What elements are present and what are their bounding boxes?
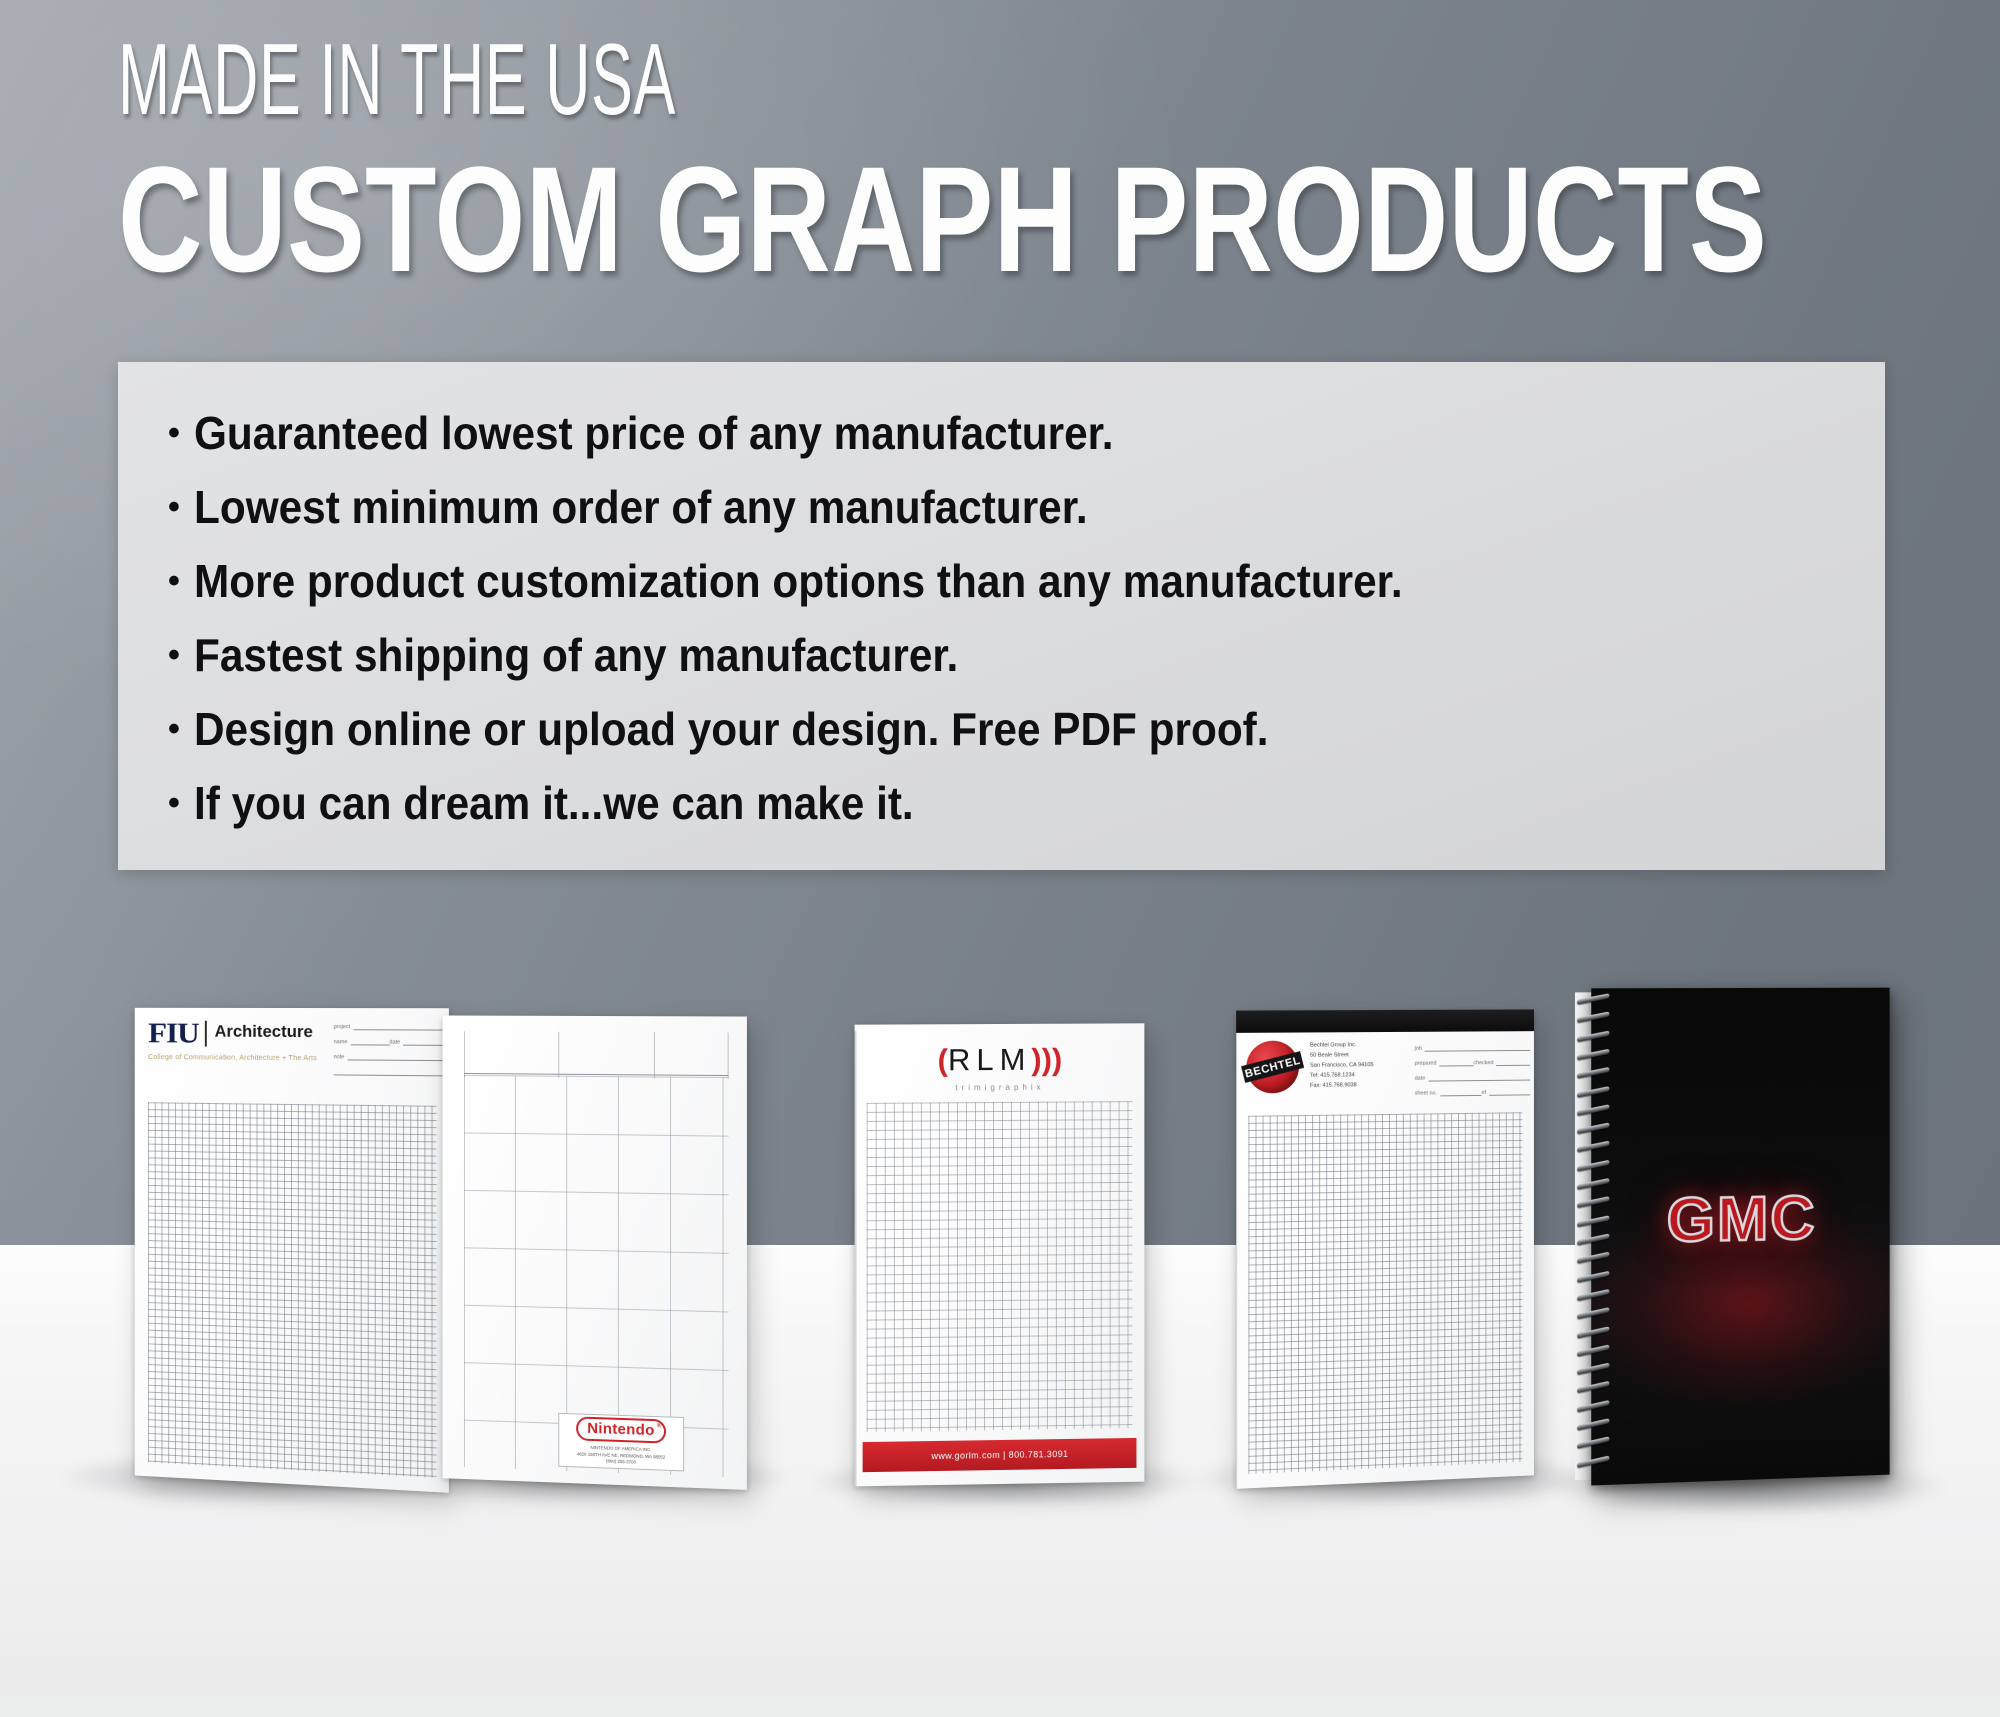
form-field-label: prepared [1415, 1061, 1437, 1067]
spiral-coil [1577, 1233, 1609, 1245]
benefits-list: • Guaranteed lowest price of any manufac… [168, 410, 1855, 854]
spiral-coil [1577, 1252, 1609, 1264]
bechtel-form-fields[interactable]: job prepared checked date sheet no. of [1415, 1043, 1530, 1104]
spiral-coil [1577, 1049, 1609, 1061]
list-item-label: If you can dream it...we can make it. [194, 780, 914, 826]
list-item-label: Fastest shipping of any manufacturer. [194, 632, 958, 678]
nintendo-logo: Nintendo® [576, 1417, 665, 1444]
form-field-rule [403, 1038, 442, 1046]
form-field-row[interactable] [334, 1067, 443, 1076]
pad-bottom-edge [443, 1478, 747, 1490]
divider [205, 1021, 207, 1047]
spiral-coil [1577, 1326, 1609, 1338]
address-line: 50 Beale Street [1310, 1050, 1373, 1061]
form-field-label: job [1415, 1046, 1422, 1052]
spiral-coil [1577, 1196, 1609, 1208]
bullet-dot-icon: • [168, 416, 180, 450]
form-field-row[interactable]: job [1415, 1043, 1530, 1052]
pad-edge [855, 1031, 857, 1487]
pad-bottom-edge [855, 1482, 1145, 1487]
address-line: Bechtel Group Inc. [1310, 1040, 1373, 1051]
product-nintendo-graph-pad[interactable]: Nintendo® NINTENDO OF AMERICA INC. 4820 … [443, 1015, 747, 1489]
spiral-coil [1577, 1215, 1609, 1227]
bullet-dot-icon: • [168, 712, 180, 746]
spiral-binding-icon [1577, 996, 1612, 1478]
rlm-right-bracket-icon: ))) [1031, 1042, 1062, 1077]
form-field-label: note [334, 1054, 345, 1060]
nintendo-logo-block: Nintendo® NINTENDO OF AMERICA INC. 4820 … [558, 1413, 684, 1472]
benefits-panel: • Guaranteed lowest price of any manufac… [118, 362, 1885, 870]
bullet-dot-icon: • [168, 786, 180, 820]
graph-grid [1248, 1112, 1522, 1474]
spiral-coil [1577, 1178, 1609, 1190]
rlm-brand-text: RLM [948, 1042, 1031, 1077]
spiral-coil [1577, 1418, 1609, 1430]
spiral-coil [1577, 1363, 1609, 1375]
spiral-coil [1577, 1086, 1609, 1098]
form-field-label: name [334, 1039, 348, 1045]
list-item: • Design online or upload your design. F… [168, 706, 1855, 752]
rlm-left-bracket-icon: ( [938, 1042, 948, 1077]
form-field-label: of [1482, 1090, 1486, 1096]
form-field-rule [347, 1052, 442, 1061]
form-field-row[interactable]: sheet no. of [1415, 1087, 1530, 1096]
pad-bottom-edge [1236, 1475, 1534, 1488]
rlm-tagline: trimigraphix [855, 1082, 1145, 1093]
address-line: Fax: 415.768.9038 [1310, 1080, 1373, 1091]
list-item-label: Lowest minimum order of any manufacturer… [194, 484, 1088, 530]
spiral-coil [1577, 1381, 1609, 1393]
rlm-footer-bar: www.gorlm.com | 800.781.3091 [863, 1438, 1137, 1472]
form-field-label: date [1415, 1076, 1426, 1082]
form-field-rule [350, 1037, 389, 1045]
fiu-department-label: Architecture [215, 1020, 313, 1044]
address-line: San Francisco, CA 94105 [1310, 1060, 1373, 1071]
product-fiu-graph-pad[interactable]: FIU Architecture College of Communicatio… [135, 1008, 449, 1493]
bechtel-globe-icon: BECHTEL [1246, 1041, 1299, 1094]
spiral-coil [1577, 1141, 1609, 1153]
spiral-coil [1577, 1067, 1609, 1079]
spiral-coil [1577, 1104, 1609, 1116]
spiral-coil [1577, 1030, 1609, 1042]
pad-bottom-edge [135, 1475, 449, 1492]
form-field-label: date [389, 1039, 400, 1045]
product-gmc-spiral-notebook[interactable]: GMC [1591, 988, 1889, 1486]
address-line: Tel: 415.768.1234 [1310, 1070, 1373, 1081]
spiral-coil [1577, 1270, 1609, 1282]
list-item-label: Design online or upload your design. Fre… [194, 706, 1269, 752]
nintendo-wordmark: Nintendo [587, 1420, 654, 1439]
form-field-rule [1428, 1073, 1530, 1082]
trademark-icon: ® [657, 1423, 662, 1429]
product-lineup: FIU Architecture College of Communicatio… [0, 980, 2000, 1540]
bechtel-wordmark: BECHTEL [1241, 1051, 1304, 1083]
fiu-logo: FIU [148, 1020, 199, 1049]
spiral-coil [1577, 1012, 1609, 1023]
form-field-rule [353, 1022, 443, 1030]
spiral-coil [1577, 1289, 1609, 1301]
form-field-label: checked [1473, 1060, 1493, 1066]
bullet-dot-icon: • [168, 564, 180, 598]
rlm-footer-text: www.gorlm.com | 800.781.3091 [931, 1449, 1068, 1461]
spiral-coil [1577, 1455, 1609, 1467]
list-item: • Guaranteed lowest price of any manufac… [168, 410, 1855, 456]
kicker-text: MADE IN THE USA [118, 34, 1209, 128]
bullet-dot-icon: • [168, 490, 180, 524]
spiral-coil [1577, 1307, 1609, 1319]
form-field-rule [1489, 1087, 1530, 1095]
form-field-rule [1440, 1088, 1482, 1096]
spiral-coil [1577, 1344, 1609, 1356]
bullet-dot-icon: • [168, 638, 180, 672]
pad-edge [1236, 1017, 1237, 1489]
header-block: MADE IN THE USA CUSTOM GRAPH PRODUCTS [118, 34, 1878, 288]
bechtel-address: Bechtel Group Inc. 50 Beale Street San F… [1310, 1040, 1373, 1093]
form-field-label: project [334, 1024, 351, 1030]
form-field-rule [1425, 1043, 1530, 1052]
form-field-label: sheet no. [1415, 1090, 1437, 1096]
fiu-form-fields[interactable]: project name date note [334, 1022, 443, 1083]
spiral-coil [1577, 1437, 1609, 1449]
page-title: CUSTOM GRAPH PRODUCTS [118, 150, 1491, 288]
bechtel-black-header-bar [1236, 1009, 1534, 1032]
spiral-coil [1577, 1123, 1609, 1135]
form-field-row[interactable]: name date [334, 1037, 443, 1046]
list-item: • Fastest shipping of any manufacturer. [168, 632, 1855, 678]
list-item: • Lowest minimum order of any manufactur… [168, 484, 1855, 530]
form-field-rule [1439, 1058, 1473, 1066]
form-field-row[interactable]: note [334, 1052, 443, 1061]
list-item-label: More product customization options than … [194, 558, 1403, 604]
product-bechtel-graph-pad[interactable]: BECHTEL Bechtel Group Inc. 50 Beale Stre… [1236, 1009, 1534, 1488]
footer-strip [0, 1695, 2000, 1717]
column-rules [464, 1031, 729, 1079]
form-field-row[interactable]: project [334, 1022, 443, 1030]
form-field-row[interactable]: prepared checked [1415, 1058, 1530, 1067]
notebook-cover: GMC [1591, 988, 1889, 1486]
form-field-rule [1496, 1058, 1530, 1066]
rlm-wordmark: (RLM))) [855, 1041, 1145, 1079]
spiral-coil [1577, 1400, 1609, 1412]
graph-grid [867, 1101, 1133, 1432]
form-field-row[interactable]: date [1415, 1073, 1530, 1082]
gmc-logo: GMC [1591, 1182, 1889, 1258]
rlm-logo: (RLM))) trimigraphix [855, 1041, 1145, 1093]
list-item: • If you can dream it...we can make it. [168, 780, 1855, 826]
product-rlm-graph-pad[interactable]: (RLM))) trimigraphix www.gorlm.com | 800… [855, 1023, 1145, 1486]
spiral-coil [1577, 1160, 1609, 1172]
form-field-rule [334, 1067, 443, 1076]
list-item-label: Guaranteed lowest price of any manufactu… [194, 410, 1114, 456]
graph-grid [148, 1102, 437, 1478]
nintendo-address: NINTENDO OF AMERICA INC. 4820 150TH AVE … [577, 1444, 665, 1467]
list-item: • More product customization options tha… [168, 558, 1855, 604]
